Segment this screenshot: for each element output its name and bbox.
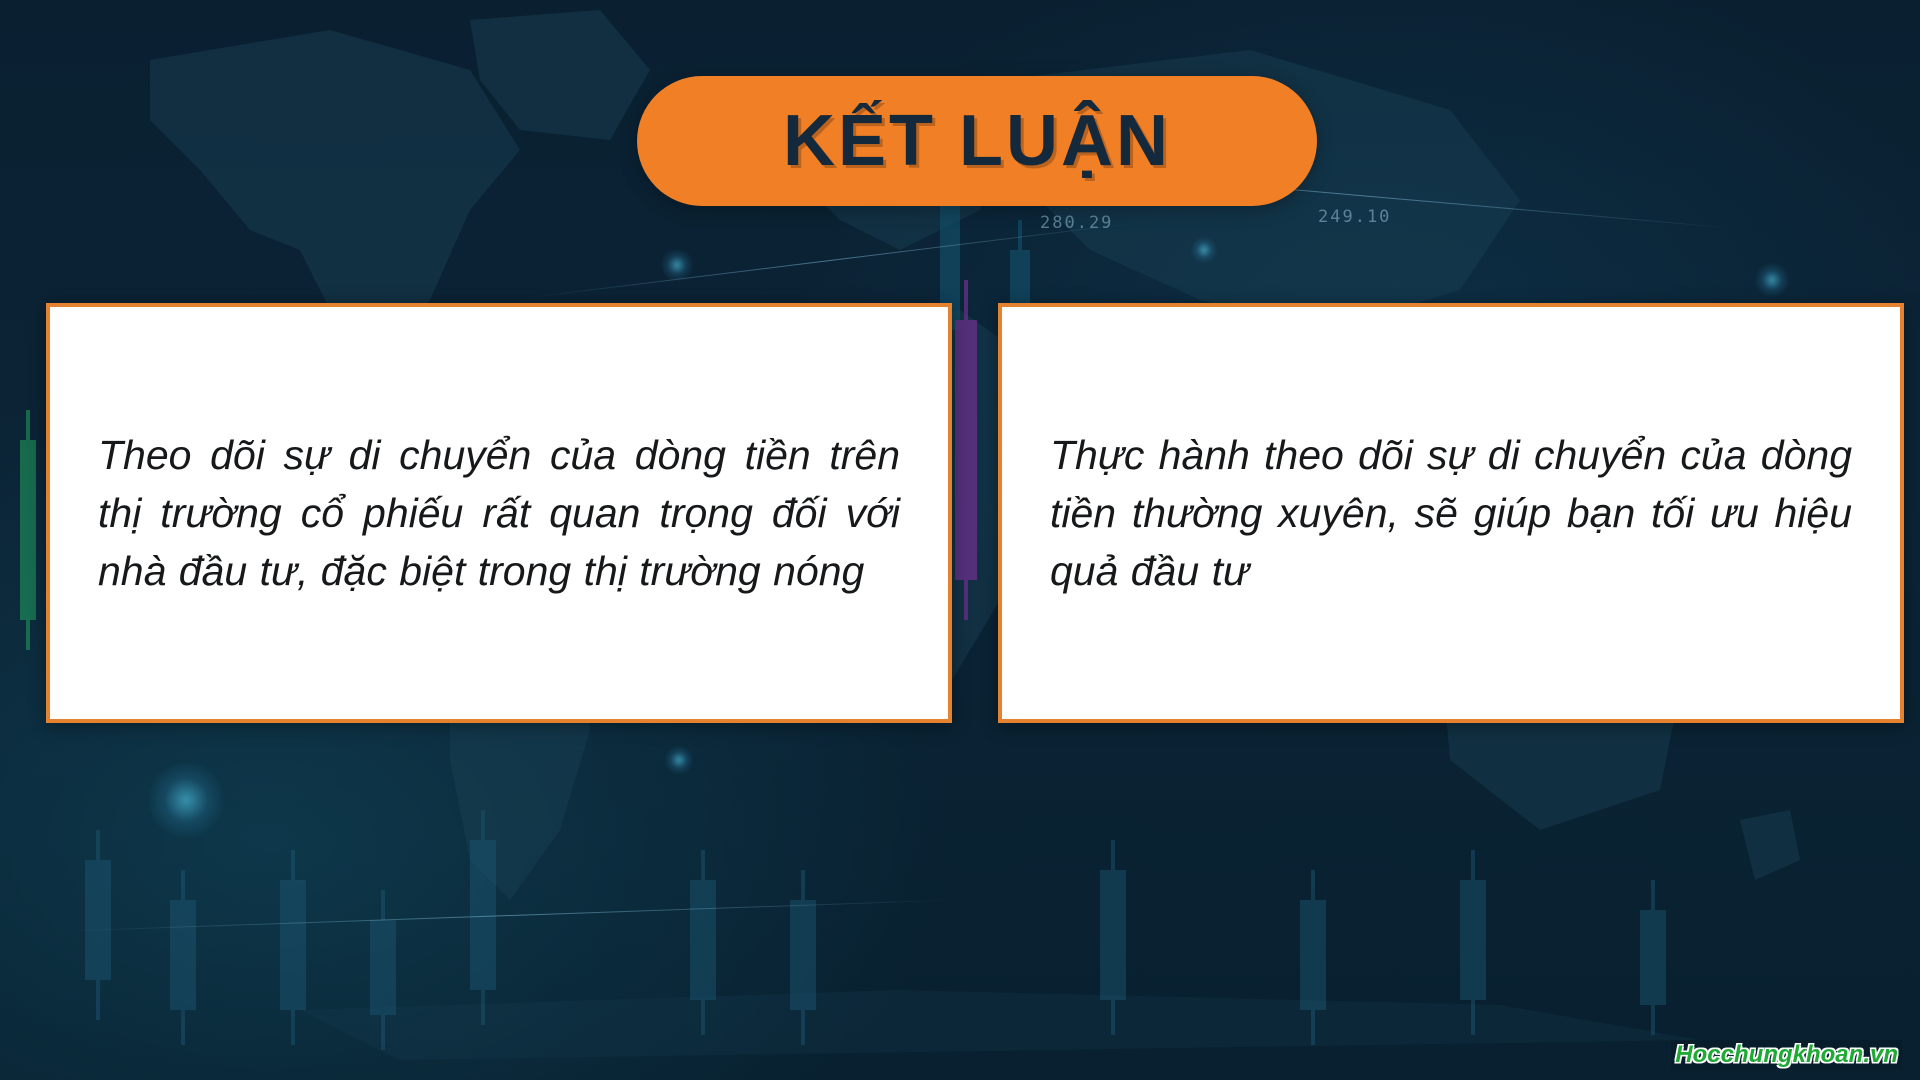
conclusion-card-right: Thực hành theo dõi sự di chuyển của dòng… bbox=[998, 303, 1904, 723]
conclusion-card-left: Theo dõi sự di chuyển của dòng tiền trên… bbox=[46, 303, 952, 723]
conclusion-card-left-text: Theo dõi sự di chuyển của dòng tiền trên… bbox=[98, 426, 900, 601]
site-watermark: Hocchungkhoan.vn bbox=[1671, 1040, 1902, 1070]
conclusion-card-right-text: Thực hành theo dõi sự di chuyển của dòng… bbox=[1050, 426, 1852, 601]
content-cards: Theo dõi sự di chuyển của dòng tiền trên… bbox=[0, 0, 1920, 1080]
